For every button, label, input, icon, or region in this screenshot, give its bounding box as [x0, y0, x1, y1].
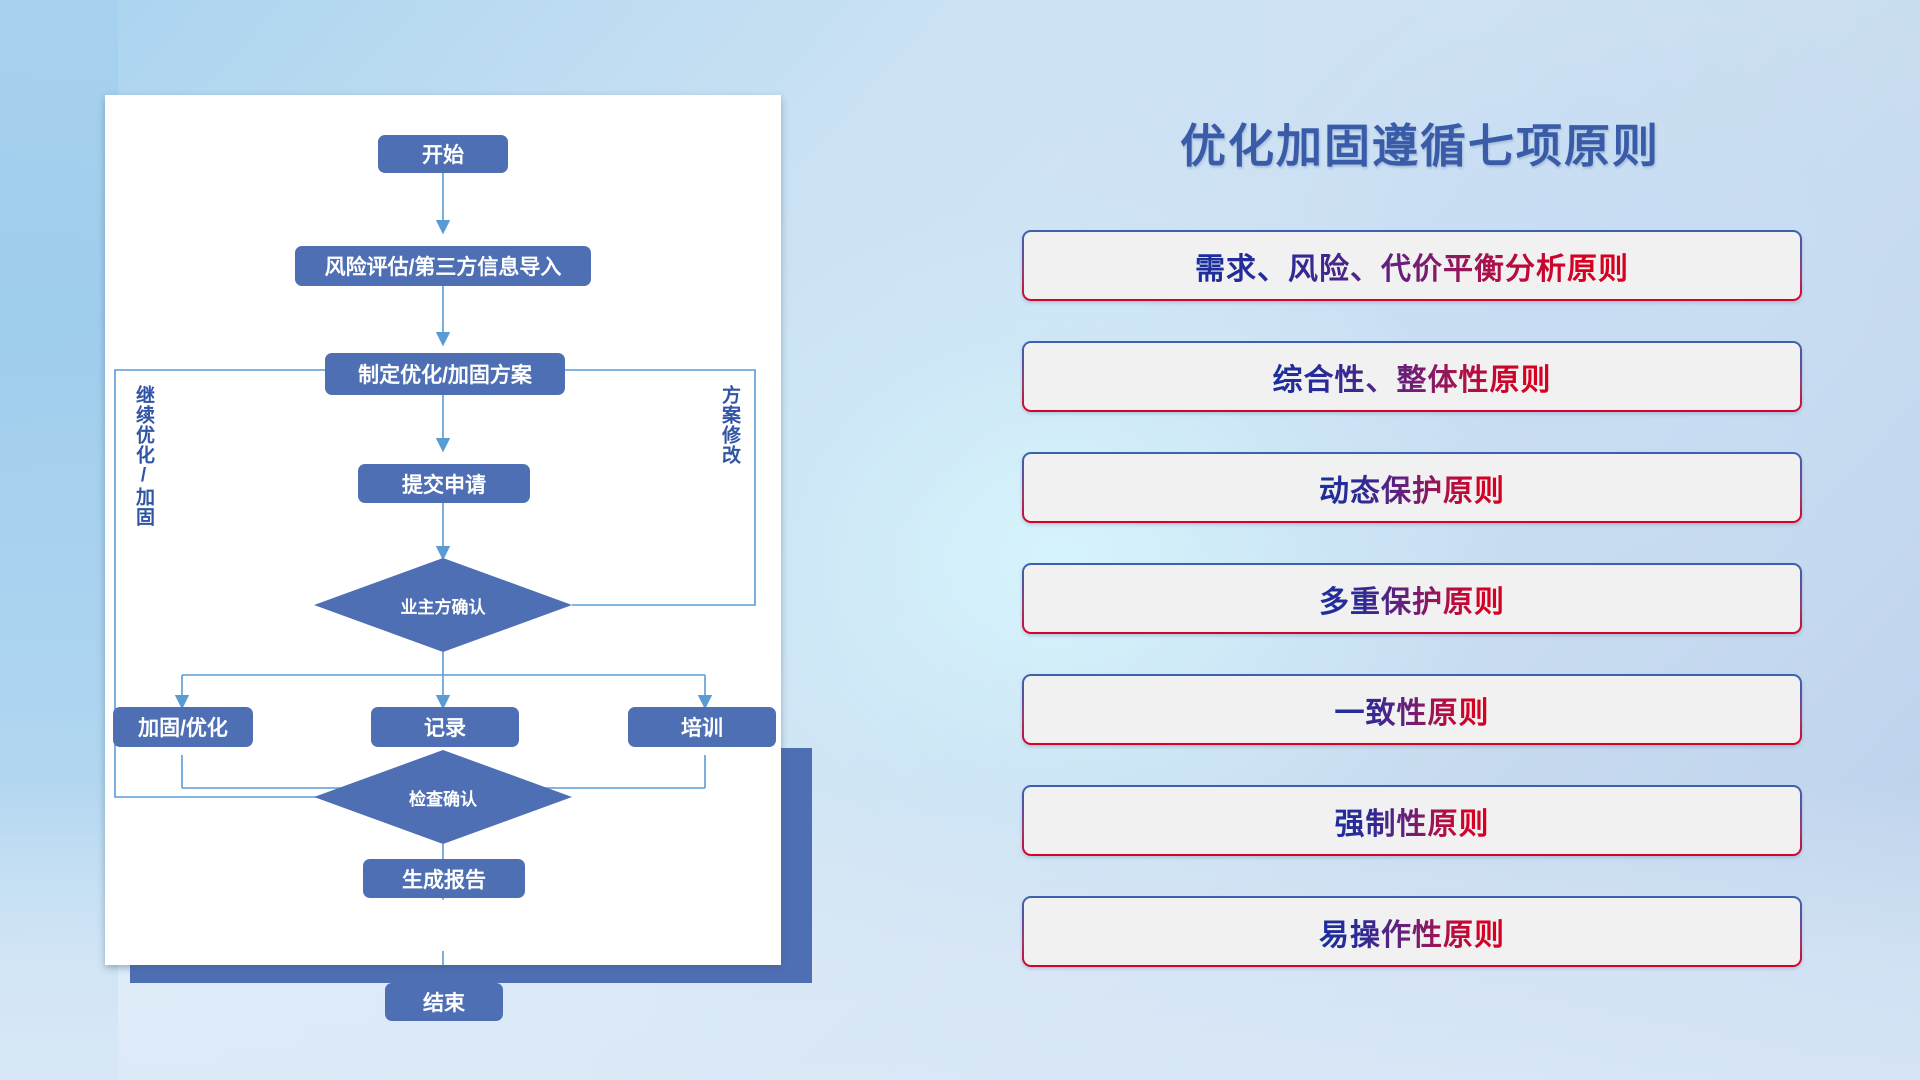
flow-node-end-label: 结束 — [423, 987, 465, 1017]
flow-node-risk-assess-label: 风险评估/第三方信息导入 — [325, 251, 562, 281]
principle-item-border: 一致性原则 — [1022, 674, 1802, 745]
loop-label-left: 继续优化/加固 — [130, 385, 157, 527]
flow-node-gen-report: 生成报告 — [363, 859, 525, 898]
principle-item-inner: 一致性原则 — [1024, 676, 1800, 743]
principle-item-border: 多重保护原则 — [1022, 563, 1802, 634]
principle-item-2[interactable]: 综合性、整体性原则 — [1022, 341, 1802, 412]
flow-node-reinforce-label: 加固/优化 — [138, 712, 228, 742]
page-title: 优化加固遵循七项原则 — [1020, 110, 1820, 176]
principle-item-3[interactable]: 动态保护原则 — [1022, 452, 1802, 523]
flow-node-start-label: 开始 — [422, 139, 464, 169]
flow-node-check-confirm-label: 检查确认 — [409, 785, 477, 810]
principle-item-border: 易操作性原则 — [1022, 896, 1802, 967]
principle-item-label: 需求、风险、代价平衡分析原则 — [1195, 244, 1629, 288]
principle-item-5[interactable]: 一致性原则 — [1022, 674, 1802, 745]
flow-node-gen-report-label: 生成报告 — [402, 864, 486, 894]
flow-node-make-plan: 制定优化/加固方案 — [325, 353, 565, 395]
flow-node-training-label: 培训 — [681, 712, 723, 742]
flow-node-submit: 提交申请 — [358, 464, 530, 503]
principle-item-4[interactable]: 多重保护原则 — [1022, 563, 1802, 634]
principle-item-inner: 易操作性原则 — [1024, 898, 1800, 965]
principle-item-inner: 需求、风险、代价平衡分析原则 — [1024, 232, 1800, 299]
flow-node-record-label: 记录 — [424, 712, 466, 742]
loop-label-right: 方案修改 — [716, 385, 743, 465]
principle-item-label: 一致性原则 — [1335, 688, 1490, 732]
principle-item-6[interactable]: 强制性原则 — [1022, 785, 1802, 856]
flow-node-end: 结束 — [385, 983, 503, 1021]
flow-node-training: 培训 — [628, 707, 776, 747]
principle-item-1[interactable]: 需求、风险、代价平衡分析原则 — [1022, 230, 1802, 301]
principle-item-border: 综合性、整体性原则 — [1022, 341, 1802, 412]
principle-item-border: 强制性原则 — [1022, 785, 1802, 856]
flow-node-owner-confirm-label: 业主方确认 — [401, 593, 486, 618]
principle-list: 需求、风险、代价平衡分析原则 综合性、整体性原则 动态保护原则 多重保护原则 一… — [1022, 230, 1802, 1007]
principle-item-inner: 综合性、整体性原则 — [1024, 343, 1800, 410]
principle-item-label: 强制性原则 — [1335, 799, 1490, 843]
flow-node-check-confirm: 检查确认 — [314, 750, 572, 844]
principle-item-border: 动态保护原则 — [1022, 452, 1802, 523]
principle-item-7[interactable]: 易操作性原则 — [1022, 896, 1802, 967]
flow-node-risk-assess: 风险评估/第三方信息导入 — [295, 246, 591, 286]
principle-item-inner: 多重保护原则 — [1024, 565, 1800, 632]
principle-item-inner: 强制性原则 — [1024, 787, 1800, 854]
flow-node-reinforce: 加固/优化 — [113, 707, 253, 747]
flow-node-submit-label: 提交申请 — [402, 469, 486, 499]
principle-item-label: 动态保护原则 — [1319, 466, 1505, 510]
principle-item-label: 多重保护原则 — [1319, 577, 1505, 621]
flow-node-start: 开始 — [378, 135, 508, 173]
flow-node-owner-confirm: 业主方确认 — [314, 558, 572, 652]
flowchart-card: 开始 风险评估/第三方信息导入 制定优化/加固方案 提交申请 业主方确认 加固/… — [105, 95, 781, 965]
principle-item-inner: 动态保护原则 — [1024, 454, 1800, 521]
principle-item-border: 需求、风险、代价平衡分析原则 — [1022, 230, 1802, 301]
principle-item-label: 易操作性原则 — [1319, 910, 1505, 954]
principle-item-label: 综合性、整体性原则 — [1273, 355, 1552, 399]
flow-node-make-plan-label: 制定优化/加固方案 — [358, 359, 532, 389]
flow-node-record: 记录 — [371, 707, 519, 747]
